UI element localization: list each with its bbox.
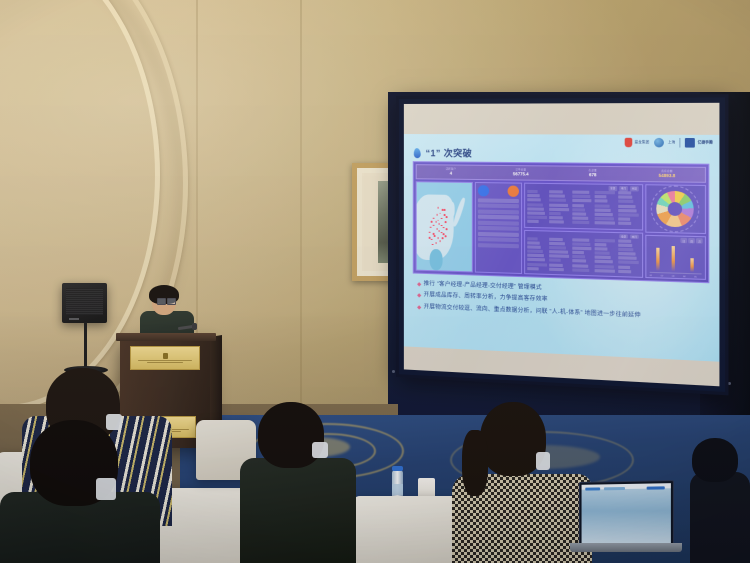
attendee-torso — [240, 458, 356, 563]
table-cell — [549, 212, 561, 215]
kpi-value: 678 — [556, 172, 629, 177]
table-cell — [572, 191, 589, 194]
spark-bar — [672, 246, 675, 272]
table-cell — [618, 209, 637, 212]
speaker-stand-pole — [84, 322, 87, 370]
face-mask — [96, 478, 116, 500]
spark-axis — [649, 272, 701, 275]
attendee-torso — [690, 472, 750, 563]
table-tab[interactable]: 本月 — [630, 234, 639, 239]
table-cell — [618, 204, 636, 207]
map-marker[interactable] — [436, 228, 438, 230]
table-cell — [618, 243, 632, 247]
table-cell — [618, 252, 636, 256]
donut-chart — [657, 191, 695, 228]
table-cell — [618, 265, 630, 269]
table-cell — [595, 256, 611, 260]
spark-tabs: 日周月 — [681, 238, 703, 243]
nav-row[interactable] — [477, 237, 518, 242]
dashboard-screenshot: 活跃客户4订单总量56775.4在途量678库存总额54893.8 — [413, 161, 710, 283]
map-marker[interactable] — [434, 235, 436, 237]
spark-tab[interactable]: 日 — [681, 238, 687, 243]
attendee-dark-polo — [0, 420, 160, 563]
table-tab[interactable]: 本周 — [630, 186, 639, 191]
table-cell — [527, 207, 544, 210]
laptop-base — [570, 543, 682, 552]
table-cell — [572, 238, 589, 242]
table-cell — [595, 200, 608, 203]
nameplate-text-line — [147, 362, 182, 363]
table-cell — [527, 237, 538, 240]
podium-nameplate-top — [130, 346, 200, 370]
kpi-4: 库存总额54893.8 — [630, 170, 705, 178]
dashboard-left-column — [416, 181, 522, 274]
table-cell — [618, 239, 631, 242]
table-cell — [549, 255, 569, 259]
presenter-glasses — [157, 298, 175, 303]
spark-bar — [691, 258, 694, 272]
table-cell — [549, 263, 562, 266]
table-cell — [572, 264, 588, 268]
table-cell — [527, 199, 541, 202]
table-cell — [618, 270, 632, 274]
map-marker[interactable] — [436, 214, 438, 216]
table-cell — [595, 243, 606, 246]
spark-panel: 日周月 0102030405 — [645, 235, 706, 280]
kpi-3: 在途量678 — [556, 170, 629, 178]
table-cell — [527, 258, 545, 262]
table-cell — [572, 204, 584, 207]
map-marker[interactable] — [435, 242, 437, 244]
microphone-head-icon — [192, 323, 197, 330]
attendee-with-laptop — [452, 402, 592, 563]
donut-panel — [645, 184, 706, 234]
table-cell — [527, 250, 542, 254]
table-cell — [527, 203, 542, 206]
map-marker[interactable] — [430, 226, 432, 228]
spark-axis-label: 03 — [672, 275, 674, 277]
table-cell — [572, 195, 590, 198]
map-marker[interactable] — [442, 237, 444, 239]
table-panel-top: 全部本月本周 — [524, 183, 643, 230]
map-landmass-south — [430, 249, 443, 270]
globe-icon — [654, 138, 664, 148]
table-cell — [618, 200, 634, 203]
nav-row[interactable] — [477, 203, 518, 208]
table-cell — [527, 245, 541, 248]
table-cell — [549, 216, 562, 219]
table-grid — [527, 190, 640, 226]
nav-row[interactable] — [477, 226, 518, 231]
table-cell — [527, 190, 538, 193]
table-cell — [549, 199, 566, 202]
slide-bullet-text: 开展成品库存、周转率分析，力争提高客存效率 — [424, 293, 548, 305]
table-cell — [595, 217, 614, 221]
table-cell — [527, 263, 547, 267]
table-cell — [527, 241, 539, 244]
table-cell — [572, 242, 590, 246]
kpi-value: 4 — [417, 171, 486, 176]
laptop-toolbar-chip — [585, 487, 600, 490]
table-cell — [595, 265, 614, 269]
conference-presentation-photo: 建龙集团 上海 亿捷手腾 “1” 次突破 活跃客户4订单总量5 — [0, 0, 750, 563]
table-cell — [595, 260, 613, 264]
map-marker[interactable] — [431, 221, 433, 223]
table-tab[interactable]: 全部 — [619, 234, 628, 239]
table-cell — [549, 237, 563, 240]
table-cell — [527, 254, 544, 258]
nav-row[interactable] — [477, 220, 518, 225]
face-mask — [312, 442, 328, 458]
kpi-1: 活跃客户4 — [417, 168, 486, 176]
table-cell — [527, 220, 539, 223]
table-cell — [595, 247, 608, 250]
table-cell — [572, 260, 587, 264]
table-cell — [572, 208, 585, 211]
map-marker[interactable] — [445, 221, 447, 223]
table-cell — [618, 222, 632, 225]
map-panel — [416, 181, 473, 272]
backdrop-grommet — [392, 370, 395, 373]
glasses-lens — [167, 298, 176, 305]
table-cell — [549, 195, 564, 198]
map-marker[interactable] — [446, 216, 448, 218]
table-cell — [549, 203, 567, 206]
map-marker[interactable] — [443, 227, 445, 229]
hotel-crest-icon — [163, 353, 168, 359]
attendee-far-right — [690, 438, 750, 563]
table-tabs: 全部本月本周 — [608, 186, 638, 191]
table-cell — [549, 190, 563, 193]
bottle-label — [392, 484, 403, 495]
map-marker[interactable] — [446, 228, 448, 230]
table-cell — [527, 194, 539, 197]
dashboard-body: 全部本月本周 全部本月 — [416, 181, 706, 280]
bottle-cap — [392, 466, 403, 471]
nav-badges — [477, 185, 518, 197]
spark-tab[interactable]: 月 — [696, 239, 702, 244]
presentation-slide: 建龙集团 上海 亿捷手腾 “1” 次突破 活跃客户4订单总量5 — [404, 134, 720, 362]
face-mask — [536, 452, 550, 470]
table-tab[interactable]: 本月 — [619, 186, 628, 191]
table-cell — [549, 208, 569, 211]
nav-badge-primary[interactable] — [477, 185, 488, 196]
table-cell — [618, 248, 634, 252]
laptop-content — [582, 483, 671, 545]
table-cell — [595, 191, 615, 194]
chair — [352, 496, 464, 563]
table-cell — [549, 220, 564, 223]
table-cell — [595, 221, 616, 225]
table-cell — [618, 256, 637, 260]
slide-bullet-text: 推行 “客户经理-产品经理-交付经理” 管理模式 — [424, 281, 542, 292]
table-cell — [549, 268, 564, 272]
nameplate-text-line — [138, 360, 192, 362]
table-cell — [618, 196, 632, 199]
dashboard-center-column: 全部本月本周 全部本月 — [524, 183, 643, 278]
attendee-head — [692, 438, 738, 482]
nav-row[interactable] — [477, 198, 518, 203]
screen-surface: 建龙集团 上海 亿捷手腾 “1” 次突破 活跃客户4订单总量5 — [404, 103, 720, 387]
map-marker[interactable] — [445, 235, 447, 237]
table-cell — [527, 216, 547, 219]
kpi-value: 54893.8 — [630, 173, 705, 179]
table-cell — [572, 212, 587, 215]
table-cell — [595, 195, 606, 198]
bullet-marker-icon — [417, 282, 421, 286]
laptop-screen[interactable] — [579, 480, 674, 548]
table-cell — [549, 250, 567, 254]
laptop-toolbar-chip — [604, 487, 625, 490]
spark-axis-label: 05 — [694, 276, 696, 278]
podium-top — [116, 333, 216, 341]
esensoft-mark-icon — [685, 138, 695, 148]
table-cell — [572, 251, 584, 254]
table-cell — [527, 267, 539, 270]
nav-row[interactable] — [477, 243, 518, 248]
glasses-lens — [157, 298, 166, 305]
slide-logo-row: 建龙集团 上海 亿捷手腾 — [625, 138, 713, 148]
kpi-2: 订单总量56775.4 — [486, 169, 557, 177]
partner-logo-left: 建龙集团 — [625, 138, 650, 148]
speaker-grille — [66, 288, 103, 315]
spark-tab[interactable]: 周 — [689, 238, 695, 243]
map-marker[interactable] — [429, 237, 431, 239]
table-cell — [549, 242, 564, 245]
jianlong-mark-icon — [625, 138, 633, 147]
table-cell — [527, 211, 545, 214]
spark-axis-label: 01 — [650, 274, 652, 276]
table-cell — [572, 221, 590, 224]
water-drop-icon — [413, 147, 421, 157]
table-tab[interactable]: 全部 — [608, 186, 617, 191]
table-cell — [595, 269, 616, 273]
spark-axis-labels: 0102030405 — [646, 236, 705, 237]
table-cell — [572, 217, 588, 220]
table-cell — [595, 204, 610, 207]
table-cell — [549, 259, 561, 262]
map-marker[interactable] — [444, 209, 446, 211]
dashboard-right-column: 日周月 0102030405 — [645, 184, 706, 280]
table-cell — [618, 218, 630, 221]
partner-logo-right-text: 亿捷手腾 — [698, 141, 713, 145]
nav-badge-alert[interactable] — [507, 186, 518, 197]
slide-title: “1” 次突破 — [426, 146, 473, 159]
table-cell — [595, 251, 610, 255]
nav-row[interactable] — [477, 209, 518, 214]
attendee-head — [258, 402, 324, 468]
map-landmass-korea — [449, 202, 454, 217]
nav-row[interactable] — [477, 215, 518, 220]
table-tabs: 全部本月 — [619, 234, 638, 239]
spark-bar — [657, 248, 660, 271]
laptop-toolbar-chip — [647, 486, 665, 489]
logo-divider — [680, 138, 681, 148]
table-cell — [595, 238, 615, 242]
bullet-marker-icon — [417, 305, 421, 309]
table-cell — [572, 255, 585, 258]
partner-logo-globe-text: 上海 — [668, 141, 675, 145]
partner-logo-left-text: 建龙集团 — [635, 141, 650, 145]
table-cell — [618, 191, 631, 194]
bullet-marker-icon — [417, 294, 421, 298]
kpi-strip: 活跃客户4订单总量56775.4在途量678库存总额54893.8 — [416, 164, 706, 183]
map-marker[interactable] — [435, 221, 437, 223]
table-cell — [618, 261, 639, 265]
pa-speaker — [62, 283, 107, 323]
table-cell — [595, 213, 613, 216]
spark-axis-label: 04 — [683, 276, 685, 278]
table-cell — [595, 208, 611, 211]
slide-title-row: “1” 次突破 — [414, 146, 472, 160]
laptop-toolbar — [582, 483, 671, 490]
table-panel-bottom: 全部本月 — [524, 229, 643, 278]
table-cell — [572, 268, 590, 272]
attendee-ponytail — [462, 430, 488, 496]
spark-axis-label: 02 — [661, 275, 663, 277]
nav-panel — [474, 182, 522, 274]
partner-logo-right: 亿捷手腾 — [685, 138, 712, 148]
table-cell — [572, 246, 592, 250]
kpi-value: 56775.4 — [486, 172, 557, 177]
attendee-dark-polo-center — [240, 402, 356, 563]
table-cell — [618, 213, 639, 217]
nav-row[interactable] — [477, 231, 518, 236]
table-cell — [572, 199, 592, 202]
speaker-badge — [69, 318, 79, 320]
table-cell — [549, 246, 566, 250]
table-grid — [527, 237, 640, 274]
projection-screen: 建龙集团 上海 亿捷手腾 “1” 次突破 活跃客户4订单总量5 — [396, 94, 728, 395]
